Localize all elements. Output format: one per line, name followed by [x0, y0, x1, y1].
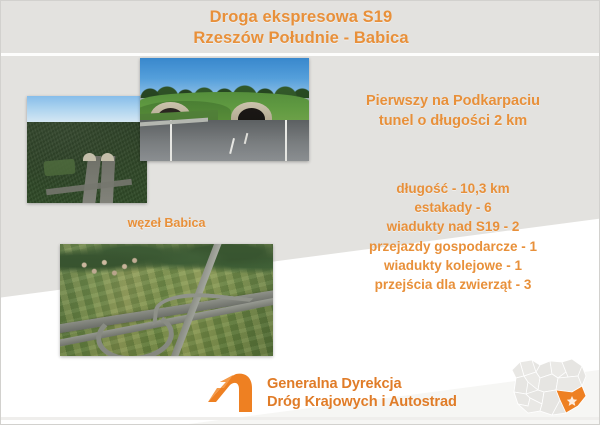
poland-map-podkarpackie-highlight	[506, 356, 592, 418]
tunnel-highlight-text: Pierwszy na Podkarpaciu tunel o długości…	[317, 91, 589, 131]
village-buildings	[77, 255, 149, 280]
lane-edge-line-right	[285, 120, 287, 161]
tunnel-highlight-line-1: Pierwszy na Podkarpaciu	[317, 91, 589, 111]
clearing-region	[43, 159, 75, 177]
asphalt-carriageway	[140, 120, 309, 161]
title-line-2: Rzeszów Południe - Babica	[1, 28, 600, 49]
presentation-slide: Droga ekspresowa S19 Rzeszów Południe - …	[0, 0, 600, 425]
tunnel-portals-road-view-image	[140, 58, 309, 161]
header-divider	[1, 53, 600, 56]
page-title: Droga ekspresowa S19 Rzeszów Południe - …	[1, 7, 600, 49]
lane-edge-line-left	[170, 120, 172, 161]
stat-item-rail-viaducts: wiadukty kolejowe - 1	[317, 256, 589, 275]
babica-interchange-aerial-image	[60, 244, 273, 356]
gddkia-arrow-icon	[206, 372, 258, 414]
gddkia-logo: Generalna Dyrekcja Dróg Krajowych i Auto…	[206, 372, 457, 414]
gddkia-logo-text: Generalna Dyrekcja Dróg Krajowych i Auto…	[267, 375, 457, 411]
statistics-list: długość - 10,3 km estakady - 6 wiadukty …	[317, 179, 589, 294]
tunnel-aerial-visualisation-image	[27, 96, 147, 203]
gddkia-logo-line-1: Generalna Dyrekcja	[267, 375, 457, 393]
gddkia-logo-line-2: Dróg Krajowych i Autostrad	[267, 393, 457, 411]
stat-item-animal-crossings: przejścia dla zwierząt - 3	[317, 275, 589, 294]
title-line-1: Droga ekspresowa S19	[1, 7, 600, 28]
stat-item-farm-crossings: przejazdy gospodarcze - 1	[317, 237, 589, 256]
stat-item-overpasses-s19: wiadukty nad S19 - 2	[317, 217, 589, 236]
tunnel-highlight-line-2: tunel o długości 2 km	[317, 111, 589, 131]
caption-wezel-babica: węzeł Babica	[60, 216, 273, 230]
sky-region	[27, 96, 147, 124]
stat-item-viaducts-estakady: estakady - 6	[317, 198, 589, 217]
stat-item-length: długość - 10,3 km	[317, 179, 589, 198]
